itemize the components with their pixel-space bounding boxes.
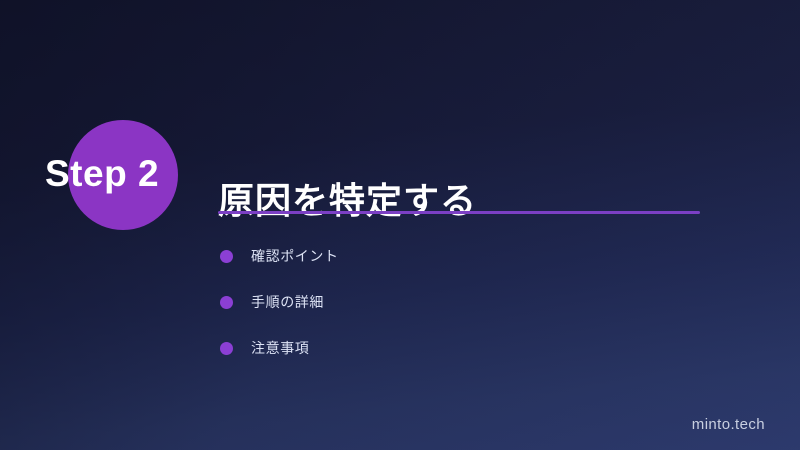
bullet-item-label: 注意事項 bbox=[251, 338, 309, 358]
list-item: 確認ポイント bbox=[220, 233, 339, 279]
list-item: 手順の詳細 bbox=[220, 279, 339, 325]
bullet-dot-icon bbox=[220, 342, 233, 355]
slide-canvas: Step 2 原因を特定する 確認ポイント 手順の詳細 注意事項 minto.t… bbox=[0, 0, 800, 450]
list-item: 注意事項 bbox=[220, 325, 339, 371]
bullet-list: 確認ポイント 手順の詳細 注意事項 bbox=[220, 233, 339, 371]
bullet-dot-icon bbox=[220, 250, 233, 263]
bullet-dot-icon bbox=[220, 296, 233, 309]
footer-brand: minto.tech bbox=[692, 416, 765, 433]
bullet-item-label: 手順の詳細 bbox=[251, 292, 324, 312]
bullet-item-label: 確認ポイント bbox=[251, 246, 339, 266]
step-badge-label: Step 2 bbox=[45, 152, 215, 196]
title-divider bbox=[218, 211, 700, 214]
slide-title: 原因を特定する bbox=[218, 172, 477, 224]
